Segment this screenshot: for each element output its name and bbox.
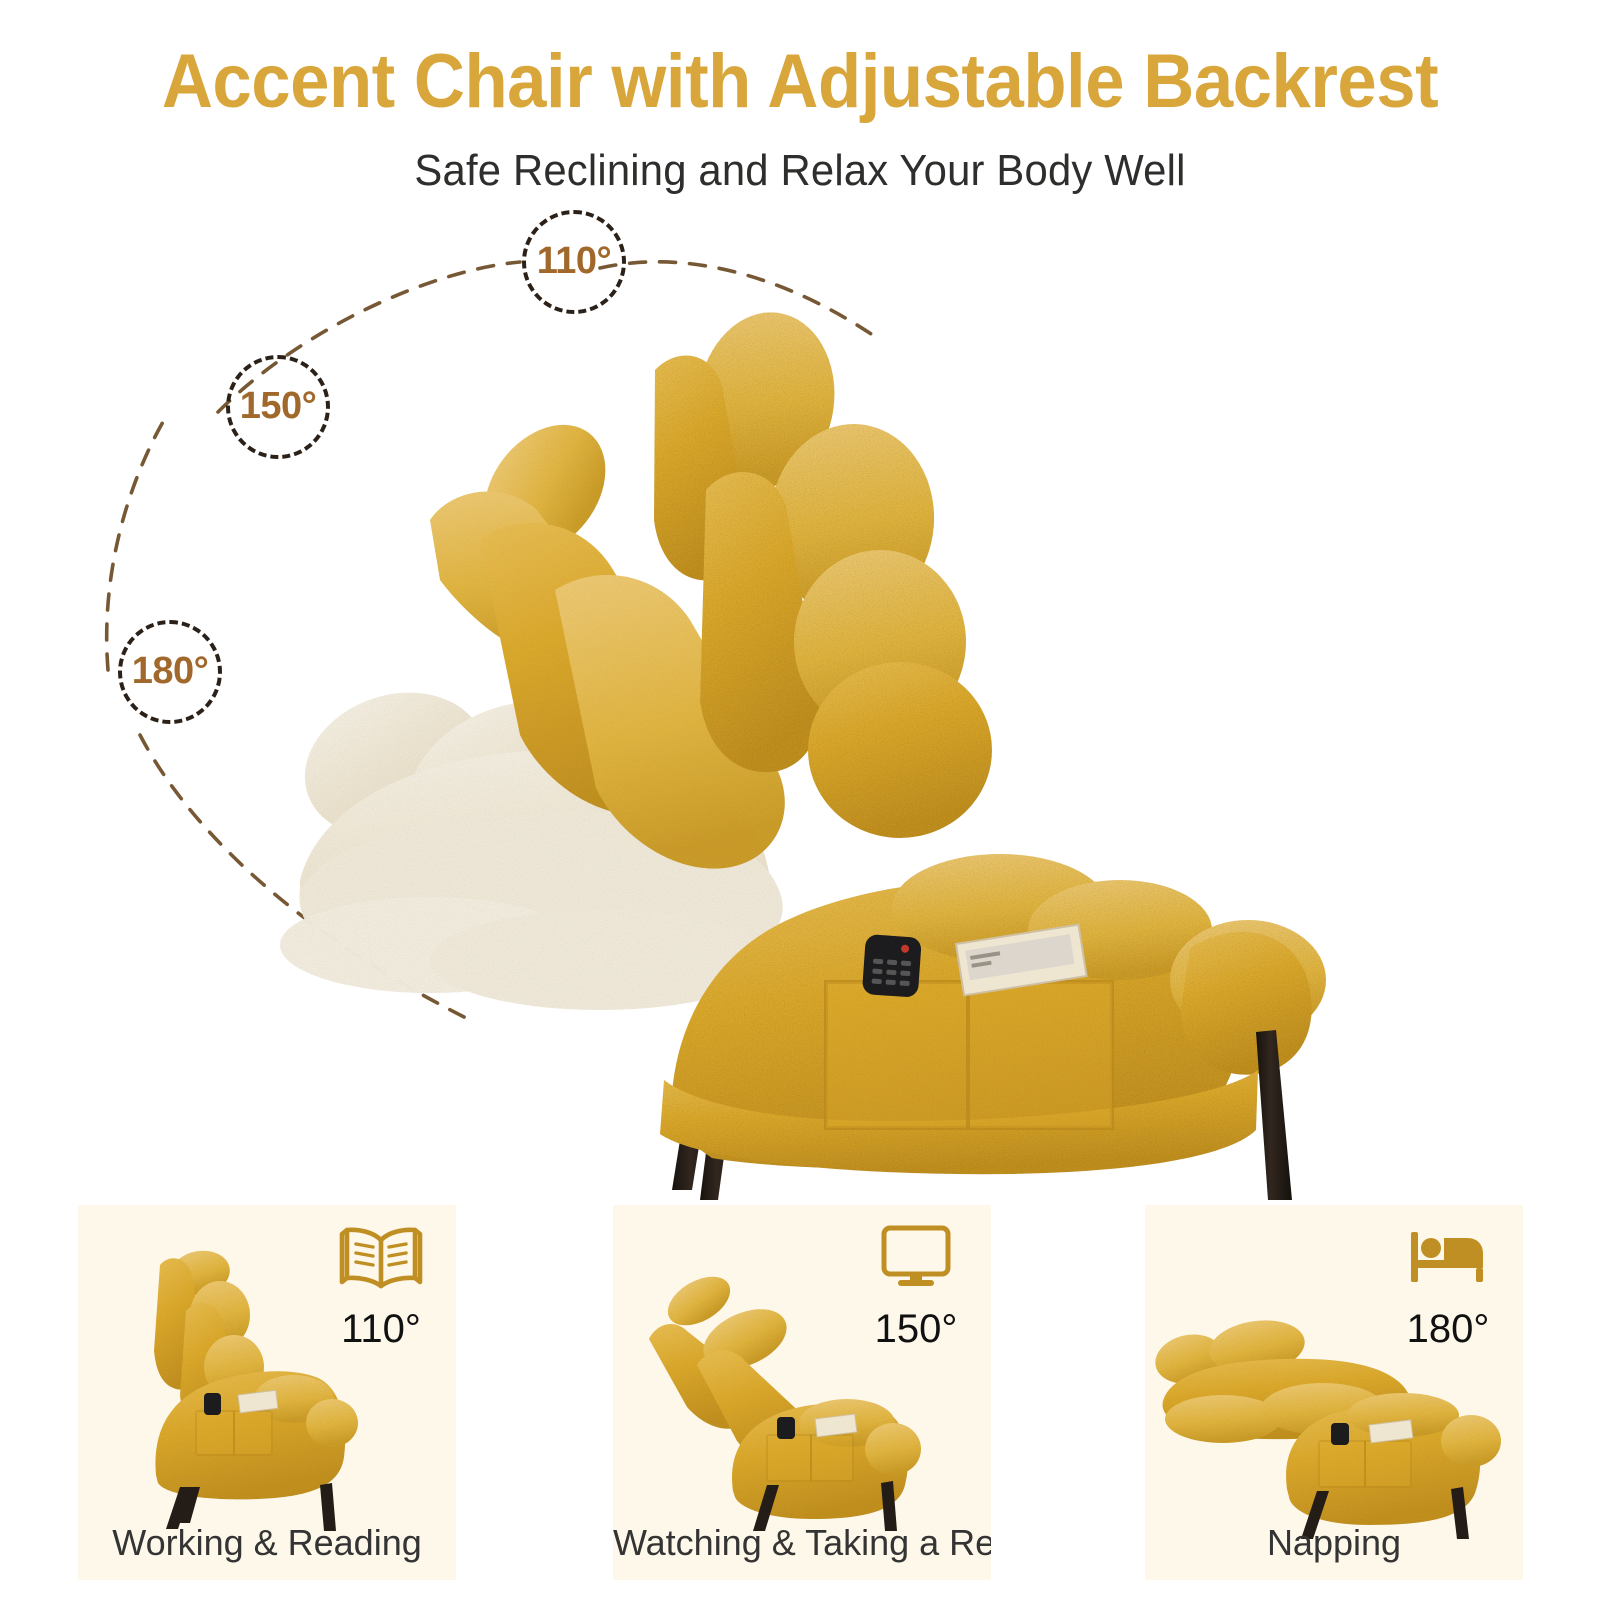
panel-2-caption: Watching & Taking a Rest (613, 1522, 991, 1564)
panel-3-caption: Napping (1145, 1522, 1523, 1564)
monitor-icon (878, 1215, 954, 1299)
panel-watching-rest[interactable]: 150° Watching & Taking a Rest (613, 1205, 991, 1580)
panel-2-angle: 150° (875, 1307, 958, 1352)
page-subtitle: Safe Reclining and Relax Your Body Well (40, 146, 1560, 196)
usage-panels: 110° Working & Reading (0, 1205, 1600, 1580)
chair-main-110 (654, 303, 1326, 1200)
panel-working-reading[interactable]: 110° Working & Reading (78, 1205, 456, 1580)
side-pockets (826, 982, 1112, 1128)
panel-1-caption: Working & Reading (78, 1522, 456, 1564)
badge-150: 150° (226, 355, 330, 459)
remote-control-icon (862, 934, 922, 998)
panel-1-icon-block: 110° (306, 1205, 456, 1375)
infographic-page: Accent Chair with Adjustable Backrest Sa… (0, 0, 1600, 1600)
badge-180-label: 180° (132, 650, 209, 693)
panel-1-angle: 110° (341, 1307, 421, 1352)
badge-180: 180° (118, 620, 222, 724)
page-title: Accent Chair with Adjustable Backrest (56, 44, 1544, 120)
open-book-icon (339, 1215, 423, 1299)
header: Accent Chair with Adjustable Backrest Sa… (0, 0, 1600, 196)
panel-napping[interactable]: 180° Napping (1145, 1205, 1523, 1580)
badge-150-label: 150° (240, 385, 317, 428)
hero-stage: 110° 150° 180° (0, 190, 1600, 1210)
panel-3-icon-block: 180° (1373, 1205, 1523, 1375)
panel-2-icon-block: 150° (841, 1205, 991, 1375)
badge-110-label: 110° (537, 240, 612, 283)
hero-illustration (0, 190, 1600, 1210)
bed-icon (1407, 1215, 1489, 1299)
panel-3-angle: 180° (1407, 1307, 1490, 1352)
badge-110: 110° (522, 210, 626, 314)
